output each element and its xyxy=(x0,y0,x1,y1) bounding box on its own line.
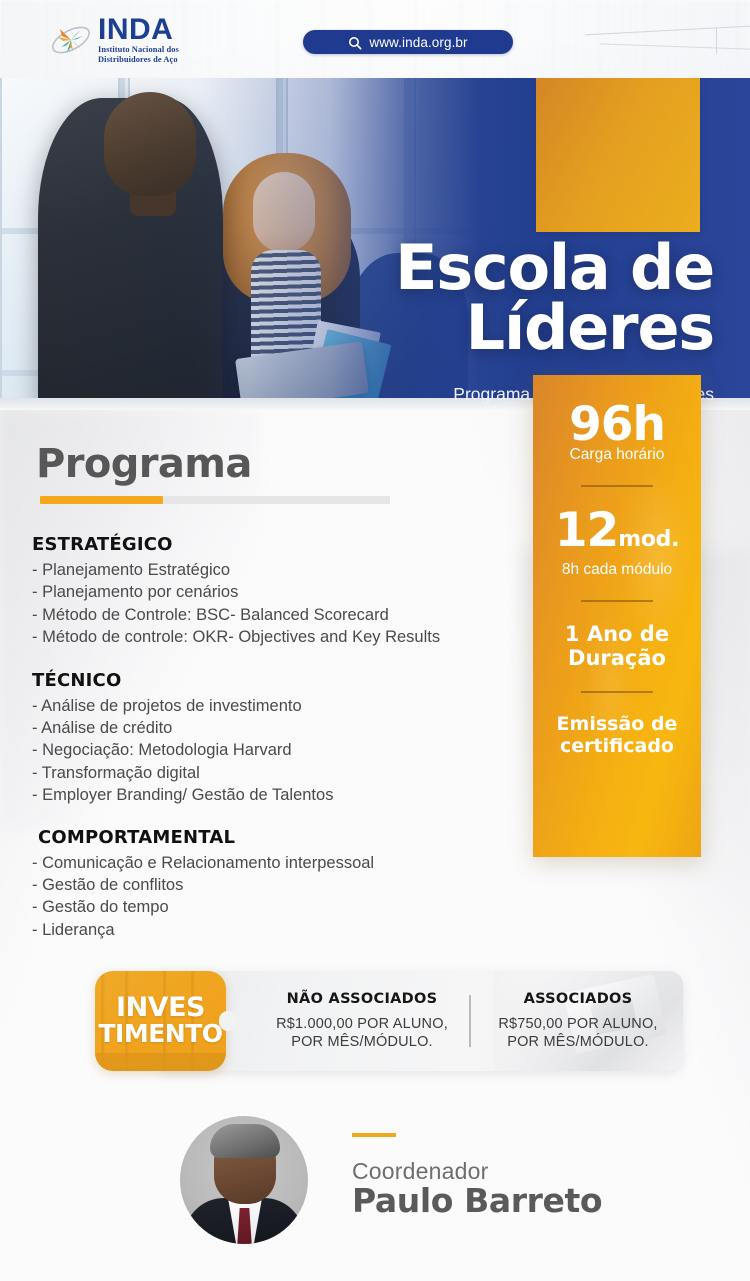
poster-root: INDA Instituto Nacional dos Distribuidor… xyxy=(0,0,750,1281)
curriculum-category-estrategico: ESTRATÉGICO - Planejamento Estratégico -… xyxy=(32,533,522,649)
stat-divider xyxy=(581,691,653,693)
logo-name: INDA xyxy=(98,15,179,45)
price-heading: NÃO ASSOCIADOS xyxy=(261,991,463,1007)
curriculum-list: ESTRATÉGICO - Planejamento Estratégico -… xyxy=(32,533,522,960)
hero-title-line2: Líderes xyxy=(395,298,714,358)
category-item: - Transformação digital xyxy=(32,762,522,784)
coordinator-section xyxy=(0,1108,750,1281)
stat-divider xyxy=(581,485,653,487)
category-item: - Comunicação e Relacionamento interpess… xyxy=(32,852,522,874)
website-url-text: www.inda.org.br xyxy=(369,35,467,50)
stat-duration-line1: 1 Ano de xyxy=(533,622,701,646)
price-heading: ASSOCIADOS xyxy=(477,991,679,1007)
price-line: R$1.000,00 POR ALUNO, xyxy=(261,1015,463,1033)
category-item: - Análise de projetos de investimento xyxy=(32,695,522,717)
investimento-badge-line2: TIMENTO xyxy=(98,1021,222,1047)
website-url-pill[interactable]: www.inda.org.br xyxy=(303,30,513,54)
investimento-section: NÃO ASSOCIADOS R$1.000,00 POR ALUNO, POR… xyxy=(95,971,683,1071)
category-item: - Planejamento por cenários xyxy=(32,581,522,603)
investimento-badge-line1: INVES xyxy=(116,995,205,1021)
stat-certificate-line1: Emissão de xyxy=(533,713,701,735)
hero-banner: Escola de Líderes Programa de formação d… xyxy=(0,78,750,408)
coordinator-avatar xyxy=(180,1116,308,1244)
programa-progress-track xyxy=(40,496,390,504)
stat-unit-modules: mod. xyxy=(618,527,679,552)
page-header: INDA Instituto Nacional dos Distribuidor… xyxy=(0,0,750,78)
investimento-prices: NÃO ASSOCIADOS R$1.000,00 POR ALUNO, POR… xyxy=(255,971,685,1071)
category-item: - Liderança xyxy=(32,919,522,941)
logo-subtitle-line2: Distribuidores de Aço xyxy=(98,55,179,65)
category-title: ESTRATÉGICO xyxy=(32,533,522,557)
inda-logo[interactable]: INDA Instituto Nacional dos Distribuidor… xyxy=(48,14,233,66)
hero-title-line1: Escola de xyxy=(395,238,714,298)
stat-duracao: 1 Ano de Duração xyxy=(533,622,701,670)
stat-divider xyxy=(581,600,653,602)
investimento-badge: INVES TIMENTO xyxy=(95,971,226,1071)
inda-atom-logo-icon xyxy=(48,17,94,63)
price-line: R$750,00 POR ALUNO, xyxy=(477,1015,679,1033)
price-column-nao-associados: NÃO ASSOCIADOS R$1.000,00 POR ALUNO, POR… xyxy=(255,991,469,1051)
search-icon xyxy=(348,36,360,48)
programa-progress-fill xyxy=(40,496,163,504)
stat-modulos: 12mod. 8h cada módulo xyxy=(533,507,701,579)
stat-duration-line2: Duração xyxy=(533,646,701,670)
curriculum-category-comportamental: COMPORTAMENTAL - Comunicação e Relaciona… xyxy=(32,826,522,942)
stat-certificate-line2: certificado xyxy=(533,735,701,757)
header-decoration-tick xyxy=(716,28,717,54)
category-item: - Gestão de conflitos xyxy=(32,874,522,896)
hero-title: Escola de Líderes xyxy=(395,238,714,358)
category-item: - Planejamento Estratégico xyxy=(32,559,522,581)
hero-orange-accent-block xyxy=(536,78,700,232)
category-item: - Método de Controle: BSC- Balanced Scor… xyxy=(32,604,522,626)
logo-text-block: INDA Instituto Nacional dos Distribuidor… xyxy=(98,15,179,65)
category-item: - Gestão do tempo xyxy=(32,896,522,918)
category-title: TÉCNICO xyxy=(32,669,522,693)
price-column-associados: ASSOCIADOS R$750,00 POR ALUNO, POR MÊS/M… xyxy=(471,991,685,1051)
programa-heading: Programa xyxy=(36,442,252,486)
stat-carga-horaria: 96h Carga horário xyxy=(533,401,701,464)
investimento-badge-notch xyxy=(219,1011,237,1031)
category-item: - Método de controle: OKR- Objectives an… xyxy=(32,626,522,648)
stat-value-hours: 96h xyxy=(569,397,665,452)
stat-value-modules: 12 xyxy=(555,503,618,558)
logo-subtitle-line1: Instituto Nacional dos xyxy=(98,45,179,55)
category-item: - Negociação: Metodologia Harvard xyxy=(32,739,522,761)
category-item: - Employer Branding/ Gestão de Talentos xyxy=(32,784,522,806)
stat-caption-hours: Carga horário xyxy=(533,446,701,464)
price-line: POR MÊS/MÓDULO. xyxy=(261,1033,463,1051)
stats-panel: 96h Carga horário 12mod. 8h cada módulo … xyxy=(533,375,701,857)
curriculum-category-tecnico: TÉCNICO - Análise de projetos de investi… xyxy=(32,669,522,807)
price-line: POR MÊS/MÓDULO. xyxy=(477,1033,679,1051)
stat-certificado: Emissão de certificado xyxy=(533,713,701,757)
category-item: - Análise de crédito xyxy=(32,717,522,739)
category-title: COMPORTAMENTAL xyxy=(32,826,522,850)
